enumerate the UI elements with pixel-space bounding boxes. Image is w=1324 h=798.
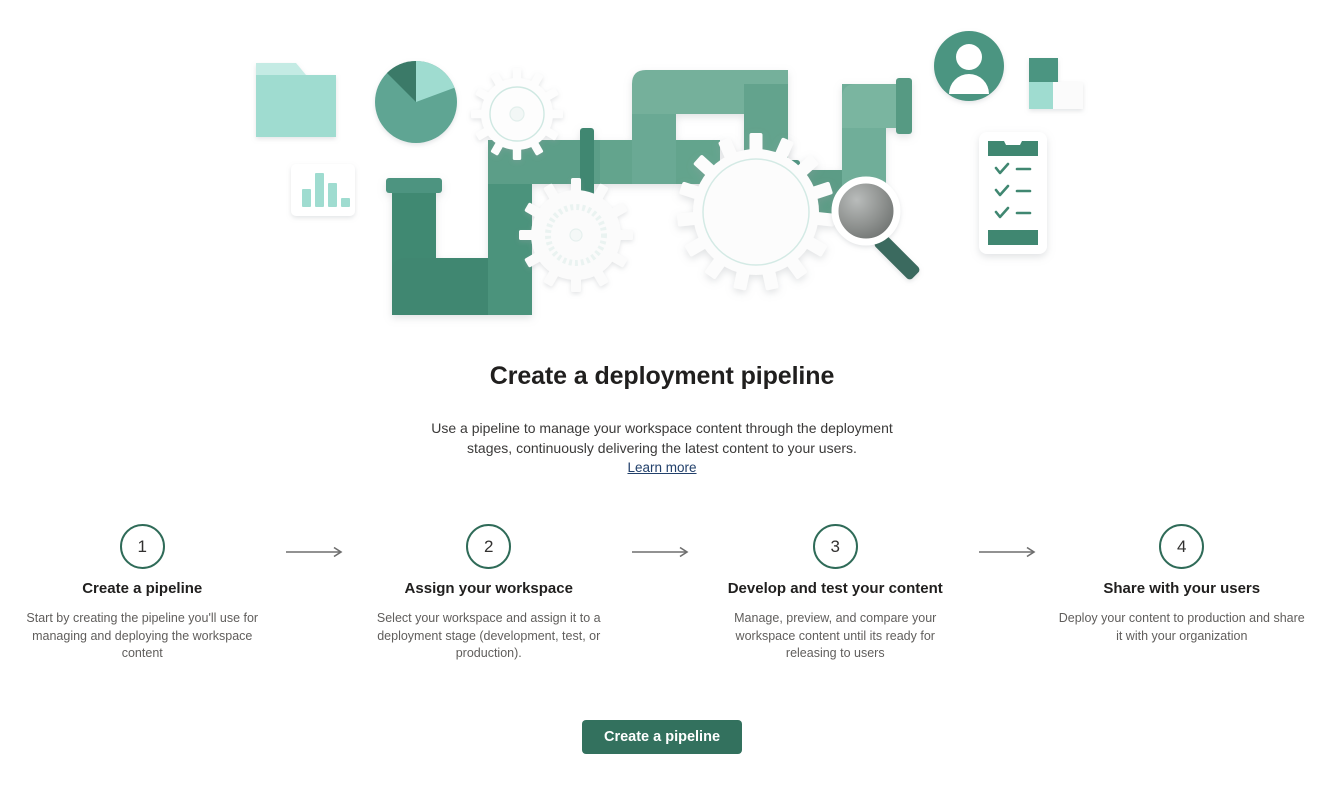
cta-container: Create a pipeline bbox=[0, 720, 1324, 754]
magnifier-icon bbox=[835, 180, 921, 281]
gear-icon bbox=[677, 133, 835, 291]
step-title: Develop and test your content bbox=[728, 580, 943, 597]
folder-icon bbox=[256, 63, 336, 137]
headline-block: Create a deployment pipeline Use a pipel… bbox=[0, 362, 1324, 477]
avatar-icon bbox=[934, 31, 1004, 101]
page-title: Create a deployment pipeline bbox=[0, 362, 1324, 391]
bar-chart-card-icon bbox=[291, 164, 355, 216]
step-number-badge: 4 bbox=[1159, 524, 1204, 569]
pipe-icon bbox=[386, 70, 912, 315]
step-number-badge: 3 bbox=[813, 524, 858, 569]
squares-icon bbox=[1029, 58, 1083, 109]
step-item-2: 2 Assign your workspace Select your work… bbox=[364, 524, 615, 663]
step-arrow-icon bbox=[961, 546, 1057, 558]
step-arrow-icon bbox=[268, 546, 364, 558]
deployment-pipeline-empty-state: Create a deployment pipeline Use a pipel… bbox=[0, 0, 1324, 798]
step-item-3: 3 Develop and test your content Manage, … bbox=[710, 524, 961, 663]
step-arrow-icon bbox=[614, 546, 710, 558]
hero-illustration bbox=[0, 0, 1324, 330]
checklist-card-icon bbox=[979, 132, 1047, 254]
step-title: Assign your workspace bbox=[405, 580, 573, 597]
step-description: Deploy your content to production and sh… bbox=[1058, 610, 1306, 645]
gear-icon bbox=[519, 178, 633, 292]
step-title: Share with your users bbox=[1103, 580, 1260, 597]
pie-chart-icon bbox=[375, 61, 457, 143]
page-subtitle: Use a pipeline to manage your workspace … bbox=[412, 418, 912, 458]
step-number-badge: 2 bbox=[466, 524, 511, 569]
step-item-4: 4 Share with your users Deploy your cont… bbox=[1057, 524, 1308, 645]
step-description: Manage, preview, and compare your worksp… bbox=[711, 610, 959, 663]
step-number-badge: 1 bbox=[120, 524, 165, 569]
steps-list: 1 Create a pipeline Start by creating th… bbox=[17, 524, 1307, 663]
step-description: Select your workspace and assign it to a… bbox=[365, 610, 613, 663]
learn-more-link[interactable]: Learn more bbox=[627, 460, 696, 475]
create-pipeline-button[interactable]: Create a pipeline bbox=[582, 720, 742, 754]
step-item-1: 1 Create a pipeline Start by creating th… bbox=[17, 524, 268, 663]
step-description: Start by creating the pipeline you'll us… bbox=[18, 610, 266, 663]
step-title: Create a pipeline bbox=[82, 580, 202, 597]
